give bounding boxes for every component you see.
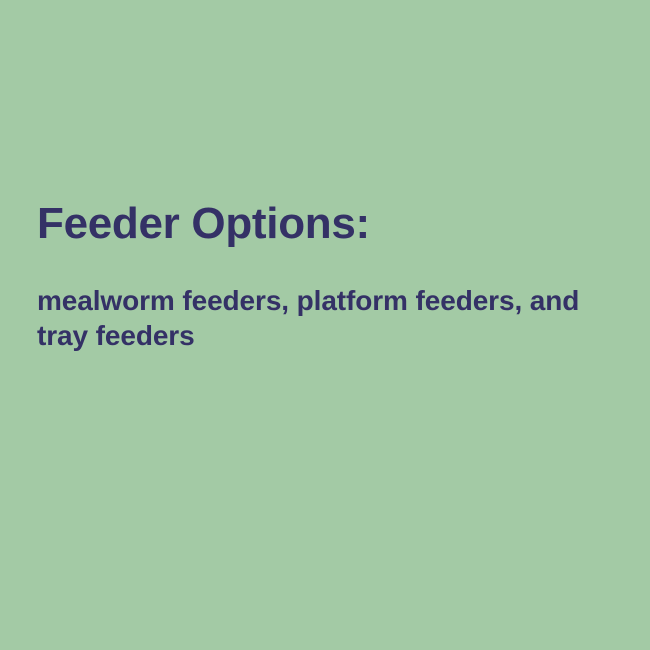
body-text: mealworm feeders, platform feeders, and … <box>37 248 602 353</box>
page-title: Feeder Options: <box>37 200 617 248</box>
text-block: Feeder Options: mealworm feeders, platfo… <box>37 200 617 353</box>
info-card: Feeder Options: mealworm feeders, platfo… <box>0 0 650 650</box>
